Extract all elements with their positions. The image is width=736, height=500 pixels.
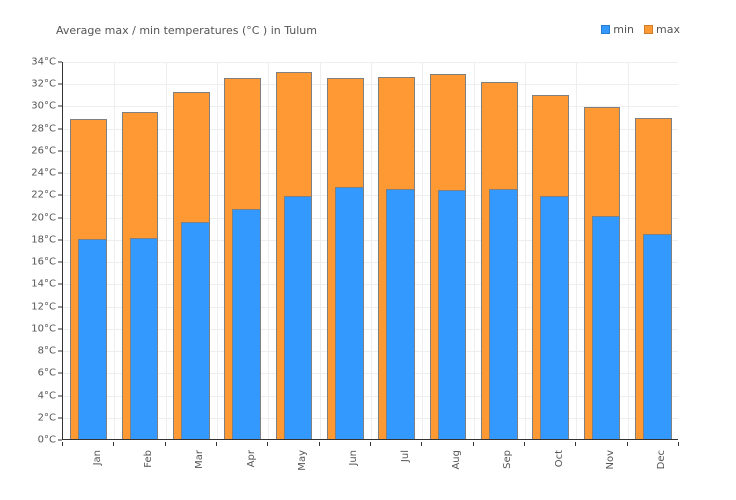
legend-swatch-min [601,25,610,34]
y-tick-label: 18°C [31,234,56,245]
y-tick-label: 20°C [31,212,56,223]
x-tick-label-nov: Nov [605,450,616,470]
y-tick-label: 28°C [31,123,56,134]
x-tick-label-may: May [297,450,308,471]
x-tick-label-feb: Feb [143,450,154,468]
x-tick-label-mar: Mar [194,450,205,469]
x-tick-mark [473,442,474,446]
x-tick-label-jun: Jun [348,450,359,466]
bar-group-jun [320,62,371,439]
bar-group-jul [371,62,422,439]
legend-label-max: max [656,24,680,35]
x-tick-label-jul: Jul [400,450,411,462]
y-tick-label: 30°C [31,101,56,112]
bar-group-nov [576,62,627,439]
y-tick-label: 26°C [31,145,56,156]
bar-min-may[interactable] [284,196,313,439]
bar-min-nov[interactable] [592,216,621,439]
bar-min-jul[interactable] [386,189,415,439]
x-tick-label-aug: Aug [451,450,462,470]
bar-min-jan[interactable] [78,239,107,439]
bar-group-may [268,62,319,439]
x-tick-label-apr: Apr [246,450,257,467]
x-axis: JanFebMarAprMayJunJulAugSepOctNovDec [62,442,678,500]
legend-item-max[interactable]: max [644,24,680,35]
bar-min-feb[interactable] [130,238,159,439]
temperature-chart: Average max / min temperatures (°C ) in … [0,0,736,500]
x-tick-mark [62,442,63,446]
y-tick-label: 22°C [31,190,56,201]
y-tick-label: 32°C [31,79,56,90]
chart-title: Average max / min temperatures (°C ) in … [56,24,317,37]
y-tick-label: 24°C [31,168,56,179]
x-tick-label-sep: Sep [502,450,513,469]
plot-area [62,62,678,440]
legend-label-min: min [613,24,634,35]
x-tick-mark [370,442,371,446]
x-tick-mark [267,442,268,446]
y-tick-label: 8°C [38,346,56,357]
legend-swatch-max [644,25,653,34]
y-tick-label: 16°C [31,257,56,268]
bar-group-feb [114,62,165,439]
x-tick-mark [524,442,525,446]
x-tick-mark [319,442,320,446]
legend-item-min[interactable]: min [601,24,634,35]
chart-legend: minmax [601,24,680,35]
bar-group-jan [63,62,114,439]
x-tick-mark [113,442,114,446]
x-tick-label-oct: Oct [554,450,565,467]
x-tick-mark [421,442,422,446]
y-axis: 0°C2°C4°C6°C8°C10°C12°C14°C16°C18°C20°C2… [0,62,62,440]
y-tick-label: 12°C [31,301,56,312]
y-tick-label: 14°C [31,279,56,290]
y-tick-label: 10°C [31,323,56,334]
y-tick-label: 34°C [31,57,56,68]
bar-min-sep[interactable] [489,189,518,439]
bar-group-dec [628,62,679,439]
x-tick-label-dec: Dec [656,450,667,469]
y-tick-label: 2°C [38,412,56,423]
bar-min-dec[interactable] [643,234,672,439]
x-tick-mark [165,442,166,446]
bar-group-apr [217,62,268,439]
bar-min-oct[interactable] [540,196,569,439]
bar-group-mar [166,62,217,439]
bar-group-aug [422,62,473,439]
x-tick-label-jan: Jan [92,450,103,465]
x-tick-mark [575,442,576,446]
bar-min-aug[interactable] [438,190,467,439]
bars-layer [63,62,678,439]
bar-group-sep [474,62,525,439]
bar-min-apr[interactable] [232,209,261,439]
x-tick-mark [678,442,679,446]
y-tick-label: 0°C [38,435,56,446]
bar-min-jun[interactable] [335,187,364,439]
y-tick-label: 6°C [38,368,56,379]
x-tick-mark [216,442,217,446]
y-tick-label: 4°C [38,390,56,401]
bar-min-mar[interactable] [181,222,210,439]
x-tick-mark [627,442,628,446]
bar-group-oct [525,62,576,439]
